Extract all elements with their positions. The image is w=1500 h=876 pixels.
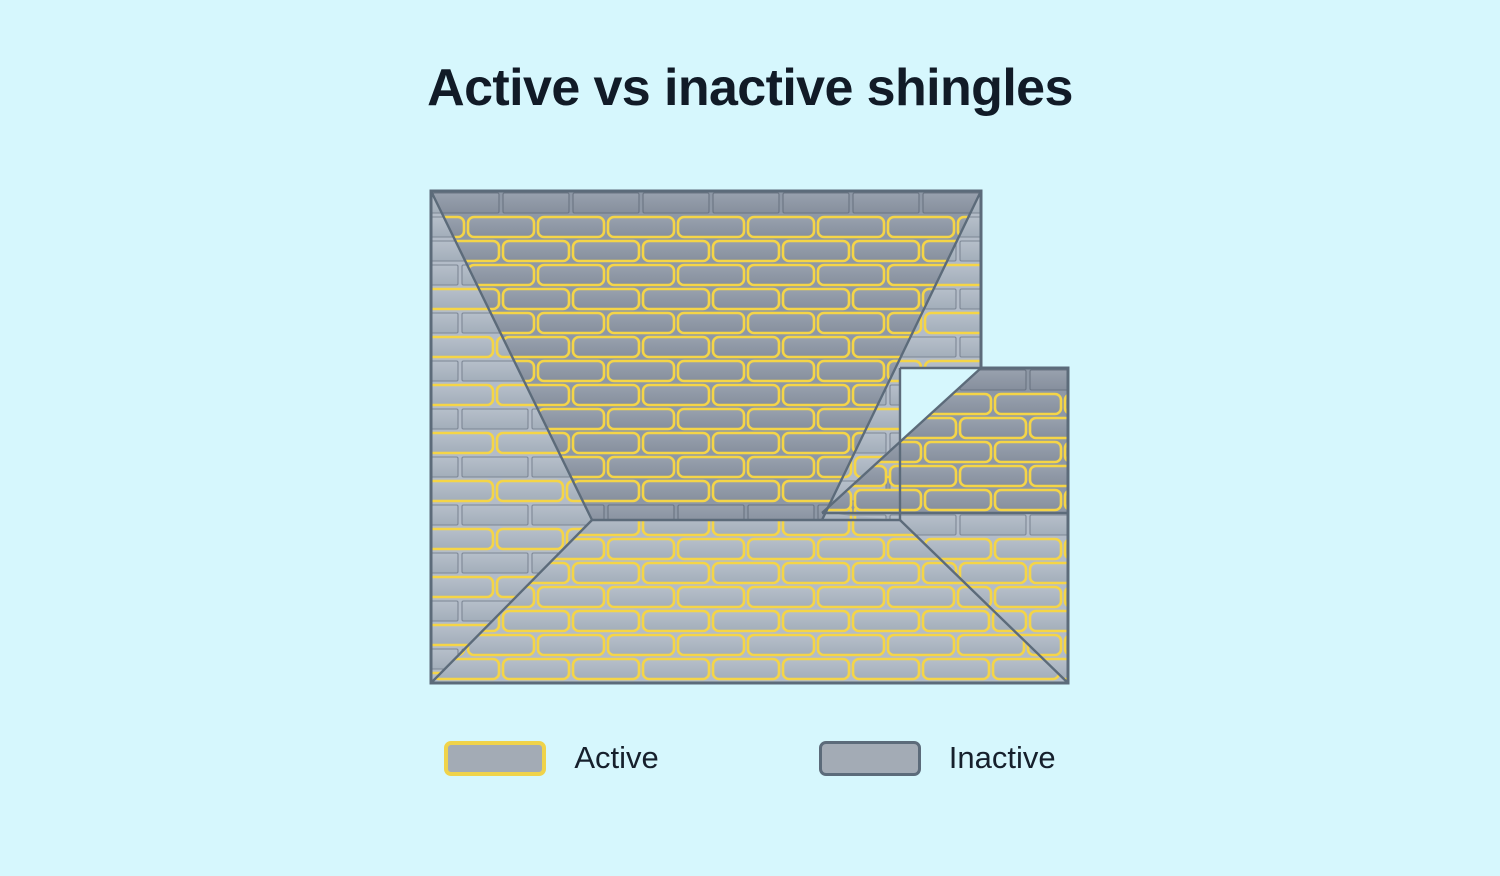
shingle-inactive[interactable] (503, 193, 569, 213)
shingle-active[interactable] (748, 217, 814, 237)
active-swatch (444, 741, 546, 776)
shingle-active[interactable] (1135, 442, 1201, 462)
shingle-active[interactable] (960, 466, 1026, 486)
shingle-active[interactable] (925, 490, 991, 510)
shingle-active[interactable] (1133, 515, 1199, 535)
shingle-active[interactable] (748, 409, 814, 429)
shingle-active[interactable] (1100, 611, 1166, 631)
shingle-active[interactable] (643, 337, 709, 357)
shingle-active[interactable] (1063, 611, 1129, 631)
shingle-active[interactable] (1100, 659, 1166, 679)
shingle-inactive[interactable] (392, 505, 458, 525)
shingle-active[interactable] (363, 289, 429, 309)
shingle-active[interactable] (1065, 265, 1131, 285)
shingle-inactive[interactable] (960, 370, 1026, 390)
shingle-active[interactable] (995, 442, 1061, 462)
shingle-active[interactable] (497, 529, 563, 549)
shingle-active[interactable] (608, 635, 674, 655)
shingle-inactive[interactable] (392, 553, 458, 573)
shingle-active[interactable] (363, 337, 429, 357)
shingle-active[interactable] (643, 289, 709, 309)
shingle-active[interactable] (748, 457, 814, 477)
shingle-active[interactable] (993, 289, 1059, 309)
shingle-inactive[interactable] (462, 457, 528, 477)
shingle-active[interactable] (503, 337, 569, 357)
shingle-active[interactable] (608, 217, 674, 237)
shingle-inactive[interactable] (462, 409, 528, 429)
shingle-active[interactable] (503, 659, 569, 679)
shingle-active[interactable] (923, 659, 989, 679)
shingle-active[interactable] (503, 289, 569, 309)
shingle-active[interactable] (995, 265, 1061, 285)
shingle-active[interactable] (1030, 418, 1096, 438)
shingle-active[interactable] (1098, 539, 1164, 559)
shingle-inactive[interactable] (960, 515, 1026, 535)
shingle-active[interactable] (363, 385, 429, 405)
shingle-active[interactable] (608, 361, 674, 381)
shingle-active[interactable] (748, 539, 814, 559)
shingle-active[interactable] (713, 337, 779, 357)
shingle-active[interactable] (538, 409, 604, 429)
shingle-active[interactable] (995, 539, 1061, 559)
shingle-active[interactable] (713, 289, 779, 309)
shingle-active[interactable] (427, 529, 493, 549)
shingle-inactive[interactable] (960, 337, 1026, 357)
shingle-active[interactable] (357, 337, 423, 357)
shingle-active[interactable] (888, 217, 954, 237)
shingle-active[interactable] (573, 337, 639, 357)
shingle-active[interactable] (1133, 611, 1199, 631)
shingle-active[interactable] (363, 515, 429, 535)
shingle-active[interactable] (1135, 587, 1201, 607)
shingle-active[interactable] (573, 289, 639, 309)
shingle-active[interactable] (678, 313, 744, 333)
shingle-active[interactable] (608, 313, 674, 333)
shingle-active[interactable] (538, 361, 604, 381)
shingle-inactive[interactable] (1135, 683, 1201, 703)
shingle-inactive[interactable] (678, 683, 744, 703)
inactive-swatch (819, 741, 921, 776)
legend: Active Inactive (0, 740, 1500, 776)
shingle-active[interactable] (713, 481, 779, 501)
legend-item-inactive[interactable]: Inactive (819, 740, 1056, 776)
shingle-active[interactable] (923, 611, 989, 631)
shingle-active[interactable] (1065, 587, 1131, 607)
shingle-inactive[interactable] (1100, 515, 1166, 535)
shingle-active[interactable] (748, 361, 814, 381)
shingle-active[interactable] (643, 433, 709, 453)
shingle-inactive[interactable] (462, 553, 528, 573)
shingle-active[interactable] (958, 635, 1024, 655)
shingle-active[interactable] (993, 337, 1059, 357)
shingle-active[interactable] (363, 241, 429, 261)
shingle-inactive[interactable] (1065, 683, 1131, 703)
shingle-inactive[interactable] (993, 193, 1059, 213)
shingle-active[interactable] (468, 635, 534, 655)
shingle-active[interactable] (888, 635, 954, 655)
shingle-active[interactable] (608, 409, 674, 429)
legend-label-active: Active (574, 740, 658, 776)
shingle-active[interactable] (748, 635, 814, 655)
shingle-active[interactable] (357, 673, 423, 693)
shingle-active[interactable] (1100, 418, 1166, 438)
shingle-active[interactable] (1168, 587, 1234, 607)
shingle-active[interactable] (1100, 563, 1166, 583)
shingle-active[interactable] (1028, 265, 1094, 285)
shingle-inactive[interactable] (1030, 193, 1096, 213)
shingle-active[interactable] (818, 217, 884, 237)
shingle-active[interactable] (538, 587, 604, 607)
shingle-active[interactable] (538, 313, 604, 333)
shingle-inactive[interactable] (1028, 683, 1094, 703)
shingle-active[interactable] (643, 611, 709, 631)
shingle-active[interactable] (538, 265, 604, 285)
shingle-active[interactable] (818, 539, 884, 559)
shingle-active[interactable] (853, 611, 919, 631)
shingle-active[interactable] (573, 659, 639, 679)
shingle-inactive[interactable] (995, 683, 1061, 703)
shingle-inactive[interactable] (1030, 241, 1096, 261)
shingle-inactive[interactable] (468, 683, 534, 703)
shingle-active[interactable] (1063, 515, 1129, 535)
shingle-active[interactable] (608, 265, 674, 285)
shingle-active[interactable] (503, 611, 569, 631)
shingle-active[interactable] (925, 442, 991, 462)
shingle-active[interactable] (573, 433, 639, 453)
shingle-inactive[interactable] (888, 683, 954, 703)
shingle-active[interactable] (357, 577, 423, 597)
shingle-active[interactable] (1063, 563, 1129, 583)
shingle-active[interactable] (573, 481, 639, 501)
shingle-inactive[interactable] (1030, 370, 1096, 390)
shingle-active[interactable] (363, 481, 429, 501)
shingle-active[interactable] (855, 490, 921, 510)
shingle-active[interactable] (678, 217, 744, 237)
shingle-active[interactable] (427, 385, 493, 405)
shingle-active[interactable] (1028, 313, 1094, 333)
shingle-active[interactable] (713, 385, 779, 405)
shingle-active[interactable] (1133, 659, 1199, 679)
shingle-active[interactable] (783, 385, 849, 405)
shingle-active[interactable] (538, 217, 604, 237)
shingle-active[interactable] (1065, 457, 1131, 477)
legend-label-inactive: Inactive (949, 740, 1056, 776)
shingle-active[interactable] (1133, 563, 1199, 583)
shingle-active[interactable] (363, 659, 429, 679)
shingle-inactive[interactable] (392, 457, 458, 477)
shingle-active[interactable] (678, 361, 744, 381)
shingle-inactive[interactable] (538, 683, 604, 703)
shingle-active[interactable] (363, 563, 429, 583)
shingle-inactive[interactable] (392, 601, 458, 621)
shingle-active[interactable] (427, 337, 493, 357)
shingle-active[interactable] (1065, 409, 1131, 429)
shingle-active[interactable] (357, 433, 423, 453)
shingle-active[interactable] (1065, 394, 1131, 414)
shingle-active[interactable] (995, 490, 1061, 510)
shingle-active[interactable] (853, 241, 919, 261)
shingle-active[interactable] (1168, 635, 1234, 655)
shingle-active[interactable] (1030, 466, 1096, 486)
shingle-active[interactable] (678, 539, 744, 559)
shingle-active[interactable] (678, 635, 744, 655)
shingle-active[interactable] (713, 611, 779, 631)
shingle-active[interactable] (357, 529, 423, 549)
shingle-active[interactable] (503, 241, 569, 261)
shingle-active[interactable] (678, 265, 744, 285)
shingle-active[interactable] (853, 289, 919, 309)
shingle-inactive[interactable] (960, 289, 1026, 309)
shingle-active[interactable] (357, 481, 423, 501)
shingle-active[interactable] (1135, 635, 1201, 655)
shingle-active[interactable] (468, 217, 534, 237)
shingle-active[interactable] (468, 265, 534, 285)
shingle-active[interactable] (1135, 539, 1201, 559)
shingle-active[interactable] (783, 289, 849, 309)
shingle-inactive[interactable] (785, 683, 851, 703)
shingle-active[interactable] (608, 587, 674, 607)
shingle-inactive[interactable] (573, 193, 639, 213)
shingle-active[interactable] (1065, 490, 1131, 510)
shingle-active[interactable] (427, 481, 493, 501)
shingle-active[interactable] (853, 659, 919, 679)
shingle-active[interactable] (1135, 394, 1201, 414)
shingle-inactive[interactable] (713, 193, 779, 213)
shingle-active[interactable] (1065, 313, 1131, 333)
shingle-inactive[interactable] (392, 409, 458, 429)
shingle-inactive[interactable] (1098, 683, 1164, 703)
shingle-active[interactable] (783, 337, 849, 357)
shingle-active[interactable] (1030, 563, 1096, 583)
shingle-inactive[interactable] (643, 193, 709, 213)
shingle-active[interactable] (818, 265, 884, 285)
shingle-active[interactable] (1065, 361, 1131, 381)
shingle-inactive[interactable] (392, 265, 458, 285)
shingle-active[interactable] (1028, 217, 1094, 237)
shingle-active[interactable] (713, 241, 779, 261)
shingle-inactive[interactable] (1030, 289, 1096, 309)
shingle-active[interactable] (713, 433, 779, 453)
shingle-inactive[interactable] (853, 193, 919, 213)
shingle-active[interactable] (960, 418, 1026, 438)
shingle-active[interactable] (853, 563, 919, 583)
shingle-inactive[interactable] (357, 241, 423, 261)
shingle-active[interactable] (1098, 635, 1164, 655)
shingle-inactive[interactable] (783, 193, 849, 213)
shingle-inactive[interactable] (1030, 515, 1096, 535)
shingle-active[interactable] (818, 635, 884, 655)
shingle-inactive[interactable] (398, 683, 464, 703)
shingle-active[interactable] (573, 611, 639, 631)
shingle-active[interactable] (1135, 490, 1201, 510)
shingle-active[interactable] (888, 587, 954, 607)
shingle-inactive[interactable] (1168, 683, 1234, 703)
shingle-inactive[interactable] (392, 313, 458, 333)
shingle-active[interactable] (713, 659, 779, 679)
shingle-active[interactable] (783, 611, 849, 631)
shingle-active[interactable] (748, 313, 814, 333)
shingle-inactive[interactable] (960, 241, 1026, 261)
shingle-inactive[interactable] (357, 193, 423, 213)
shingle-active[interactable] (995, 313, 1061, 333)
shingle-inactive[interactable] (433, 193, 499, 213)
figure-root: Active vs inactive shingles (0, 0, 1500, 876)
shingle-active[interactable] (748, 587, 814, 607)
shingle-active[interactable] (363, 611, 429, 631)
shingle-active[interactable] (995, 394, 1061, 414)
shingle-inactive[interactable] (1100, 370, 1166, 390)
shingle-inactive[interactable] (392, 361, 458, 381)
shingle-active[interactable] (573, 385, 639, 405)
shingle-active[interactable] (995, 587, 1061, 607)
shingle-active[interactable] (427, 577, 493, 597)
shingle-active[interactable] (608, 457, 674, 477)
shingle-active[interactable] (818, 587, 884, 607)
shingle-active[interactable] (643, 481, 709, 501)
shingle-active[interactable] (608, 539, 674, 559)
shingle-inactive[interactable] (608, 683, 674, 703)
shingle-active[interactable] (713, 563, 779, 583)
shingle-active[interactable] (993, 241, 1059, 261)
shingle-active[interactable] (643, 563, 709, 583)
shingle-active[interactable] (1065, 505, 1131, 525)
shingle-active[interactable] (427, 433, 493, 453)
shingle-field (357, 193, 1234, 703)
shingle-inactive[interactable] (1100, 514, 1166, 534)
shingle-active[interactable] (1063, 659, 1129, 679)
legend-item-active[interactable]: Active (444, 740, 658, 776)
shingle-active[interactable] (573, 563, 639, 583)
shingle-inactive[interactable] (462, 505, 528, 525)
shingle-active[interactable] (573, 241, 639, 261)
shingle-active[interactable] (678, 587, 744, 607)
shingle-active[interactable] (1030, 611, 1096, 631)
shingle-active[interactable] (960, 563, 1026, 583)
shingle-inactive[interactable] (925, 683, 991, 703)
shingle-active[interactable] (783, 659, 849, 679)
shingle-active[interactable] (783, 433, 849, 453)
shingle-active[interactable] (818, 361, 884, 381)
shingle-active[interactable] (678, 457, 744, 477)
shingle-inactive[interactable] (818, 683, 884, 703)
shingle-active[interactable] (643, 659, 709, 679)
shingle-active[interactable] (1098, 587, 1164, 607)
shingle-active[interactable] (1065, 539, 1131, 559)
shingle-active[interactable] (497, 481, 563, 501)
shingle-active[interactable] (783, 563, 849, 583)
shingle-active[interactable] (1100, 466, 1166, 486)
shingle-inactive[interactable] (363, 193, 429, 213)
shingle-active[interactable] (538, 635, 604, 655)
shingle-active[interactable] (748, 265, 814, 285)
shingle-inactive[interactable] (855, 683, 921, 703)
shingle-inactive[interactable] (1065, 217, 1131, 237)
shingle-active[interactable] (783, 241, 849, 261)
shingle-active[interactable] (357, 289, 423, 309)
shingle-active[interactable] (643, 241, 709, 261)
shingle-active[interactable] (357, 385, 423, 405)
shingle-inactive[interactable] (995, 217, 1061, 237)
shingle-active[interactable] (1168, 539, 1234, 559)
shingle-active[interactable] (363, 433, 429, 453)
shingle-inactive[interactable] (748, 683, 814, 703)
shingle-active[interactable] (678, 409, 744, 429)
shingle-active[interactable] (357, 625, 423, 645)
shingle-active[interactable] (1065, 442, 1131, 462)
shingle-active[interactable] (1065, 635, 1131, 655)
shingle-active[interactable] (643, 385, 709, 405)
shingle-inactive[interactable] (958, 683, 1024, 703)
shingle-inactive[interactable] (1030, 337, 1096, 357)
shingle-active[interactable] (818, 313, 884, 333)
